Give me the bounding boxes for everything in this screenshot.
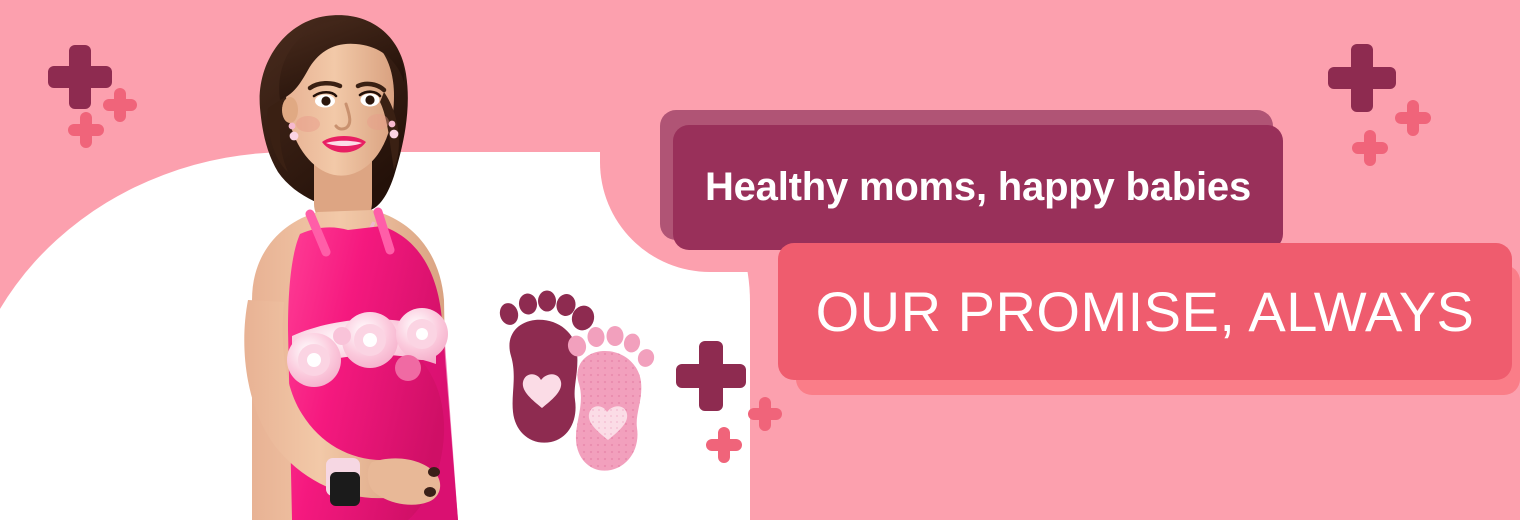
baby-footprints-graphic [495,290,675,480]
earring-left [289,123,296,130]
footprint-pink [566,326,657,471]
earring-right [389,121,396,128]
medical-cross-icon [748,397,782,431]
blush-left [296,116,320,132]
ear [282,97,298,123]
medical-cross-icon [103,88,137,122]
pregnant-woman-photo [222,0,522,520]
watch-face [330,472,360,506]
medical-cross-icon [1352,130,1388,166]
fingernail-2 [424,487,436,497]
iris-left [321,96,330,105]
tagline-box: Healthy moms, happy babies [660,110,1283,250]
promise-text: OUR PROMISE, ALWAYS [816,279,1475,344]
sash-bud [395,355,421,381]
promise-box-face: OUR PROMISE, ALWAYS [778,243,1512,380]
tagline-text: Healthy moms, happy babies [705,165,1251,210]
fingernail-1 [428,467,440,477]
tagline-box-face: Healthy moms, happy babies [673,125,1283,250]
medical-cross-icon [1328,44,1396,112]
medical-cross-icon [676,341,746,411]
sash-petal [333,327,351,345]
medical-cross-icon [68,112,104,148]
earring-right-drop [390,130,399,139]
maternity-promo-banner: Healthy moms, happy babies OUR PROMISE, … [0,0,1520,520]
blush-right [367,114,389,130]
earring-left-drop [290,132,299,141]
iris-right [365,95,374,104]
medical-cross-icon [706,427,742,463]
medical-cross-icon [1395,100,1431,136]
promise-box: OUR PROMISE, ALWAYS [778,243,1520,395]
